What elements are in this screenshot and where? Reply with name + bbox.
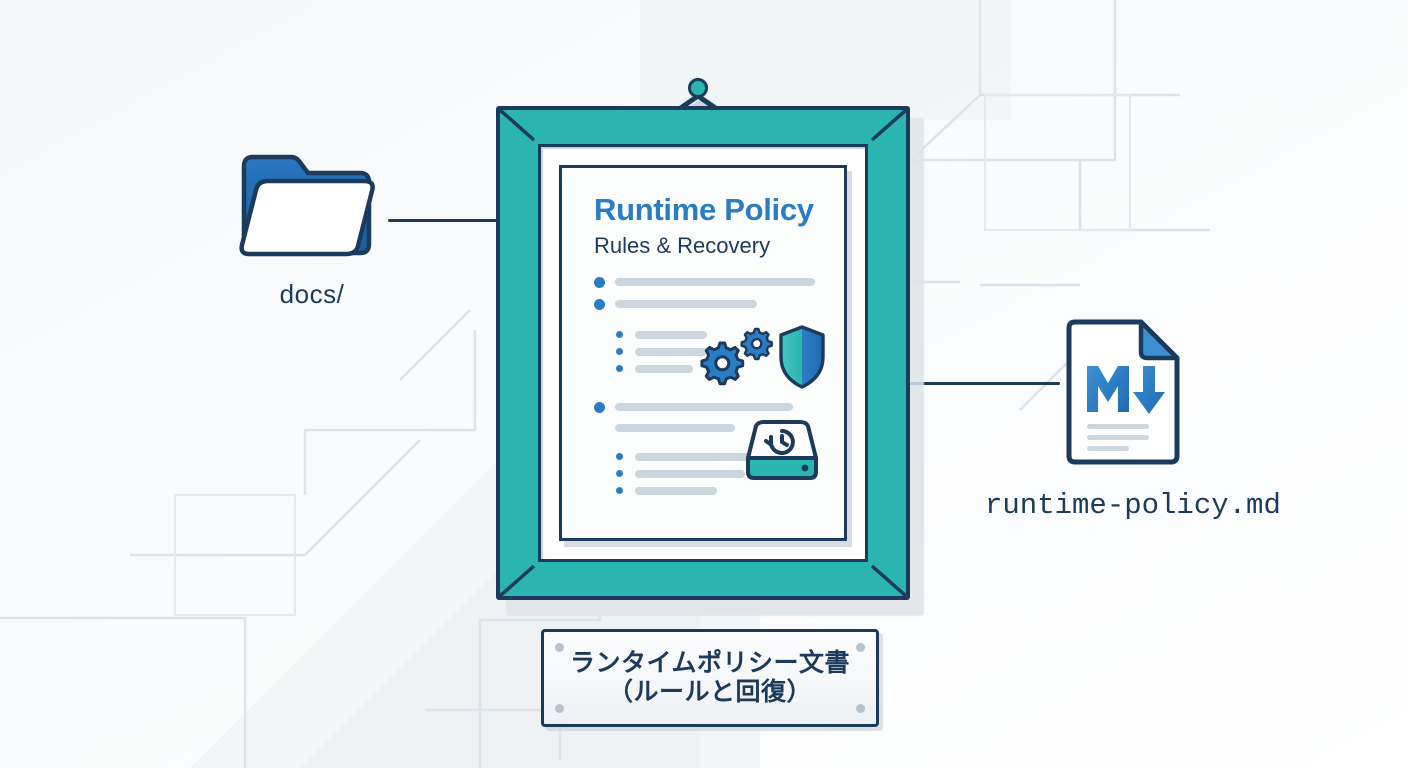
text-placeholder-bar	[635, 470, 745, 478]
text-placeholder-bar	[615, 424, 735, 432]
folder-icon	[236, 148, 388, 266]
bullet-dot-icon	[616, 331, 623, 338]
bullet-dot-icon	[616, 453, 623, 460]
list-item	[594, 402, 822, 413]
screw-icon	[555, 643, 564, 652]
shield-icon	[781, 327, 823, 387]
markdown-file-label: runtime-policy.md	[985, 489, 1403, 522]
connector-frame-to-markdown	[908, 382, 1060, 385]
text-placeholder-bar	[635, 348, 707, 356]
list-item	[594, 299, 822, 310]
text-placeholder-bar	[615, 403, 793, 411]
text-placeholder-bar	[635, 331, 707, 339]
folder-label: docs/	[236, 279, 388, 310]
folder-node[interactable]: docs/	[236, 148, 416, 310]
markdown-file-icon	[1063, 318, 1183, 466]
hanger-nail-icon	[688, 78, 708, 98]
framed-poster[interactable]: Runtime Policy Rules & Recovery	[492, 40, 922, 612]
bullet-dot-icon	[594, 402, 605, 413]
bullet-dot-icon	[616, 348, 623, 355]
text-placeholder-bar	[615, 300, 757, 308]
large-gear-icon	[702, 343, 743, 384]
text-placeholder-bar	[635, 365, 693, 373]
bullet-dot-icon	[616, 365, 623, 372]
picture-frame: Runtime Policy Rules & Recovery	[496, 106, 910, 600]
markdown-file-node[interactable]: runtime-policy.md	[1063, 318, 1403, 522]
list-item	[594, 277, 822, 288]
bullet-dot-icon	[594, 299, 605, 310]
screw-icon	[555, 704, 564, 713]
document-title: Runtime Policy	[594, 194, 822, 227]
backup-restore-drive-icon	[744, 420, 820, 482]
caption-line-2: （ルールと回復）	[570, 678, 850, 708]
screw-icon	[856, 704, 865, 713]
recovery-section	[594, 402, 822, 495]
rules-section	[594, 277, 822, 373]
screw-icon	[856, 643, 865, 652]
bullet-dot-icon	[616, 487, 623, 494]
text-placeholder-bar	[635, 487, 717, 495]
frame-mat: Runtime Policy Rules & Recovery	[538, 144, 868, 562]
policy-document-sheet: Runtime Policy Rules & Recovery	[559, 165, 847, 541]
diagram-canvas: docs/ runtime-policy.md	[0, 0, 1408, 768]
bullet-dot-icon	[594, 277, 605, 288]
bullet-dot-icon	[616, 470, 623, 477]
document-body	[594, 277, 822, 495]
caption-line-1: ランタイムポリシー文書	[570, 649, 850, 679]
small-gear-icon	[742, 329, 772, 359]
gears-icon	[700, 321, 828, 391]
text-placeholder-bar	[615, 278, 815, 286]
list-item	[616, 487, 822, 495]
document-subtitle: Rules & Recovery	[594, 233, 822, 259]
caption-plate: ランタイムポリシー文書 （ルールと回復）	[541, 629, 879, 727]
